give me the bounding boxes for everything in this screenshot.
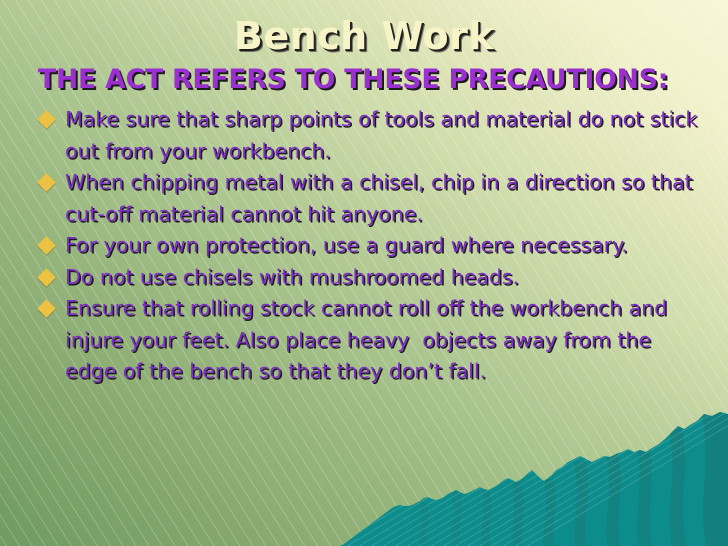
list-item-text: For your own protection, use a guard whe…	[65, 230, 700, 262]
list-item: When chipping metal with a chisel, chip …	[40, 167, 700, 230]
list-item-text: Make sure that sharp points of tools and…	[65, 104, 700, 167]
diamond-bullet-icon	[37, 299, 55, 317]
list-item-text: When chipping metal with a chisel, chip …	[65, 167, 700, 230]
slide-title: Bench Work	[0, 14, 728, 58]
diamond-bullet-icon	[37, 236, 55, 254]
slide-subtitle: THE ACT REFERS TO THESE PRECAUTIONS:	[38, 64, 693, 95]
bullet-list: Make sure that sharp points of tools and…	[40, 104, 700, 388]
list-item: Ensure that rolling stock cannot roll of…	[40, 293, 700, 388]
list-item: For your own protection, use a guard whe…	[40, 230, 700, 262]
diamond-bullet-icon	[37, 268, 55, 286]
list-item-text: Ensure that rolling stock cannot roll of…	[65, 293, 700, 388]
presentation-slide: Bench Work THE ACT REFERS TO THESE PRECA…	[0, 0, 728, 546]
list-item: Make sure that sharp points of tools and…	[40, 104, 700, 167]
list-item-text: Do not use chisels with mushroomed heads…	[65, 262, 700, 294]
diamond-bullet-icon	[37, 110, 55, 128]
diamond-bullet-icon	[37, 173, 55, 191]
list-item: Do not use chisels with mushroomed heads…	[40, 262, 700, 294]
